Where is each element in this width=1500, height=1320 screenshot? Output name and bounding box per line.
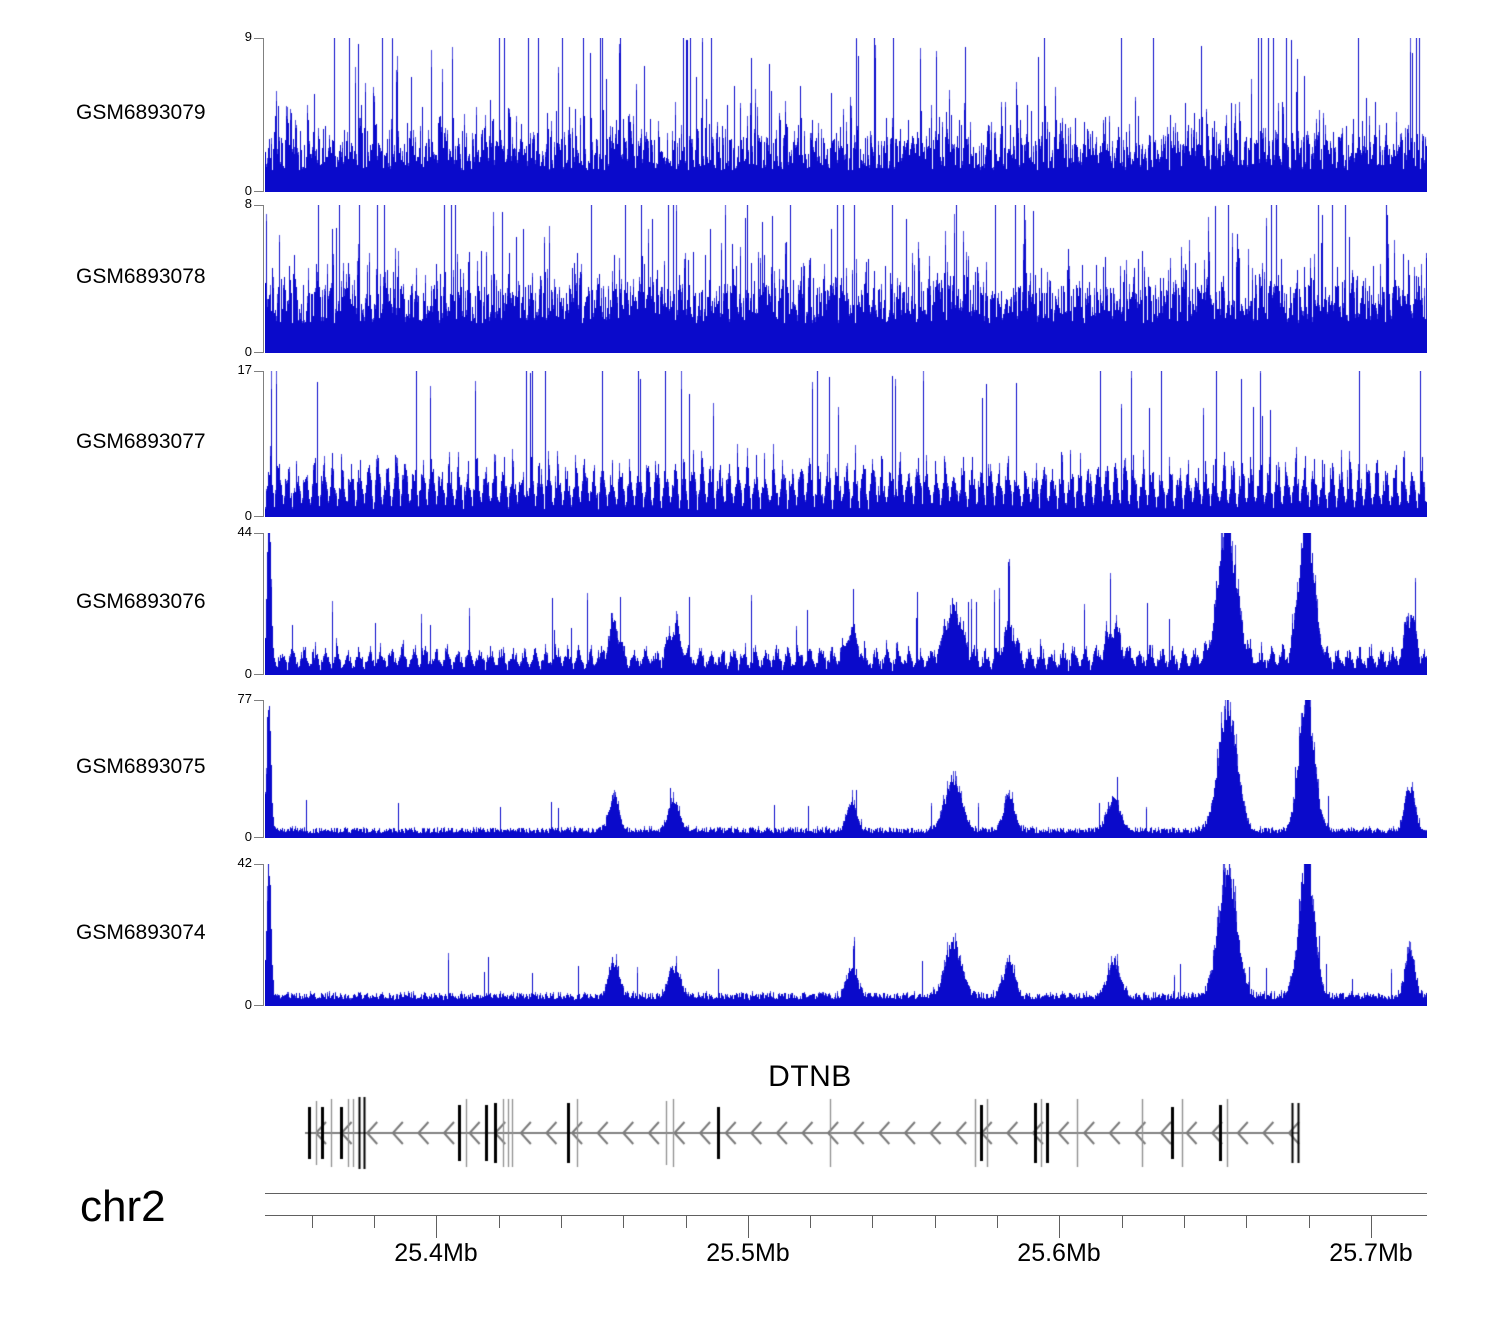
coverage-track-gsm6893078[interactable]: GSM689307880 (0, 205, 1500, 353)
y-axis-min-label: 0 (224, 666, 252, 681)
track-label-gsm6893074: GSM6893074 (76, 921, 226, 945)
axis-main-rule (265, 1215, 1427, 1216)
coverage-track-gsm6893079[interactable]: GSM689307990 (0, 38, 1500, 192)
axis-minor-tick (1184, 1216, 1185, 1228)
axis-minor-tick (872, 1216, 873, 1228)
y-axis-line (263, 371, 264, 517)
y-axis-max-label: 17 (224, 362, 252, 377)
coverage-plot-gsm6893077[interactable] (265, 371, 1427, 517)
coverage-canvas[interactable] (265, 864, 1427, 1006)
coverage-plot-gsm6893078[interactable] (265, 205, 1427, 353)
axis-major-tick (1059, 1216, 1060, 1238)
y-axis-line (263, 864, 264, 1006)
coverage-track-gsm6893075[interactable]: GSM6893075770 (0, 700, 1500, 838)
coverage-plot-gsm6893076[interactable] (265, 533, 1427, 675)
axis-minor-tick (686, 1216, 687, 1228)
y-axis-tick-max (254, 700, 264, 701)
axis-minor-tick (1122, 1216, 1123, 1228)
gene-model-track[interactable]: DTNB (0, 1050, 1500, 1190)
track-label-gsm6893075: GSM6893075 (76, 755, 226, 779)
axis-minor-tick (374, 1216, 375, 1228)
track-label-gsm6893077: GSM6893077 (76, 430, 226, 454)
axis-minor-tick (1246, 1216, 1247, 1228)
axis-minor-tick (623, 1216, 624, 1228)
axis-minor-tick (810, 1216, 811, 1228)
coverage-canvas[interactable] (265, 533, 1427, 675)
y-axis-tick-min (254, 837, 264, 838)
y-axis-max-label: 77 (224, 691, 252, 706)
axis-minor-tick (997, 1216, 998, 1228)
y-axis-tick-min (254, 674, 264, 675)
gene-model-canvas[interactable] (0, 1095, 1500, 1185)
y-axis-line (263, 533, 264, 675)
coverage-track-gsm6893076[interactable]: GSM6893076440 (0, 533, 1500, 675)
coverage-track-gsm6893077[interactable]: GSM6893077170 (0, 371, 1500, 517)
track-label-gsm6893076: GSM6893076 (76, 590, 226, 614)
y-axis-tick-min (254, 191, 264, 192)
axis-tick-label: 25.5Mb (706, 1239, 789, 1268)
track-label-gsm6893079: GSM6893079 (76, 101, 226, 125)
y-axis-min-label: 0 (224, 829, 252, 844)
track-label-gsm6893078: GSM6893078 (76, 265, 226, 289)
axis-tick-label: 25.6Mb (1017, 1239, 1100, 1268)
y-axis-line (263, 700, 264, 838)
coverage-canvas[interactable] (265, 700, 1427, 838)
y-axis-max-label: 9 (224, 29, 252, 44)
genome-coordinate-axis[interactable]: 25.4Mb25.5Mb25.6Mb25.7Mb (0, 1185, 1500, 1295)
coverage-canvas[interactable] (265, 371, 1427, 517)
axis-tick-label: 25.4Mb (394, 1239, 477, 1268)
coverage-plot-gsm6893075[interactable] (265, 700, 1427, 838)
coverage-plot-gsm6893079[interactable] (265, 38, 1427, 192)
axis-top-rule (265, 1193, 1427, 1194)
y-axis-tick-min (254, 1005, 264, 1006)
axis-minor-tick (561, 1216, 562, 1228)
coverage-canvas[interactable] (265, 205, 1427, 353)
y-axis-tick-max (254, 371, 264, 372)
y-axis-min-label: 0 (224, 997, 252, 1012)
y-axis-min-label: 0 (224, 508, 252, 523)
y-axis-line (263, 205, 264, 353)
axis-major-tick (436, 1216, 437, 1238)
axis-tick-label: 25.7Mb (1329, 1239, 1412, 1268)
y-axis-tick-min (254, 352, 264, 353)
axis-minor-tick (312, 1216, 313, 1228)
axis-major-tick (1371, 1216, 1372, 1238)
axis-minor-tick (1309, 1216, 1310, 1228)
gene-name-text: DTNB (768, 1060, 852, 1093)
y-axis-min-label: 0 (224, 344, 252, 359)
axis-major-tick (748, 1216, 749, 1238)
y-axis-max-label: 42 (224, 855, 252, 870)
y-axis-tick-max (254, 205, 264, 206)
coverage-canvas[interactable] (265, 38, 1427, 192)
y-axis-max-label: 8 (224, 196, 252, 211)
genome-browser-view: GSM689307990GSM689307880GSM6893077170GSM… (0, 0, 1500, 1320)
y-axis-line (263, 38, 264, 192)
axis-minor-tick (499, 1216, 500, 1228)
coverage-track-gsm6893074[interactable]: GSM6893074420 (0, 864, 1500, 1006)
y-axis-tick-min (254, 516, 264, 517)
axis-minor-tick (935, 1216, 936, 1228)
y-axis-tick-max (254, 864, 264, 865)
y-axis-tick-max (254, 533, 264, 534)
coverage-plot-gsm6893074[interactable] (265, 864, 1427, 1006)
y-axis-max-label: 44 (224, 524, 252, 539)
gene-name-label: DTNB (0, 1060, 1500, 1094)
y-axis-tick-max (254, 38, 264, 39)
